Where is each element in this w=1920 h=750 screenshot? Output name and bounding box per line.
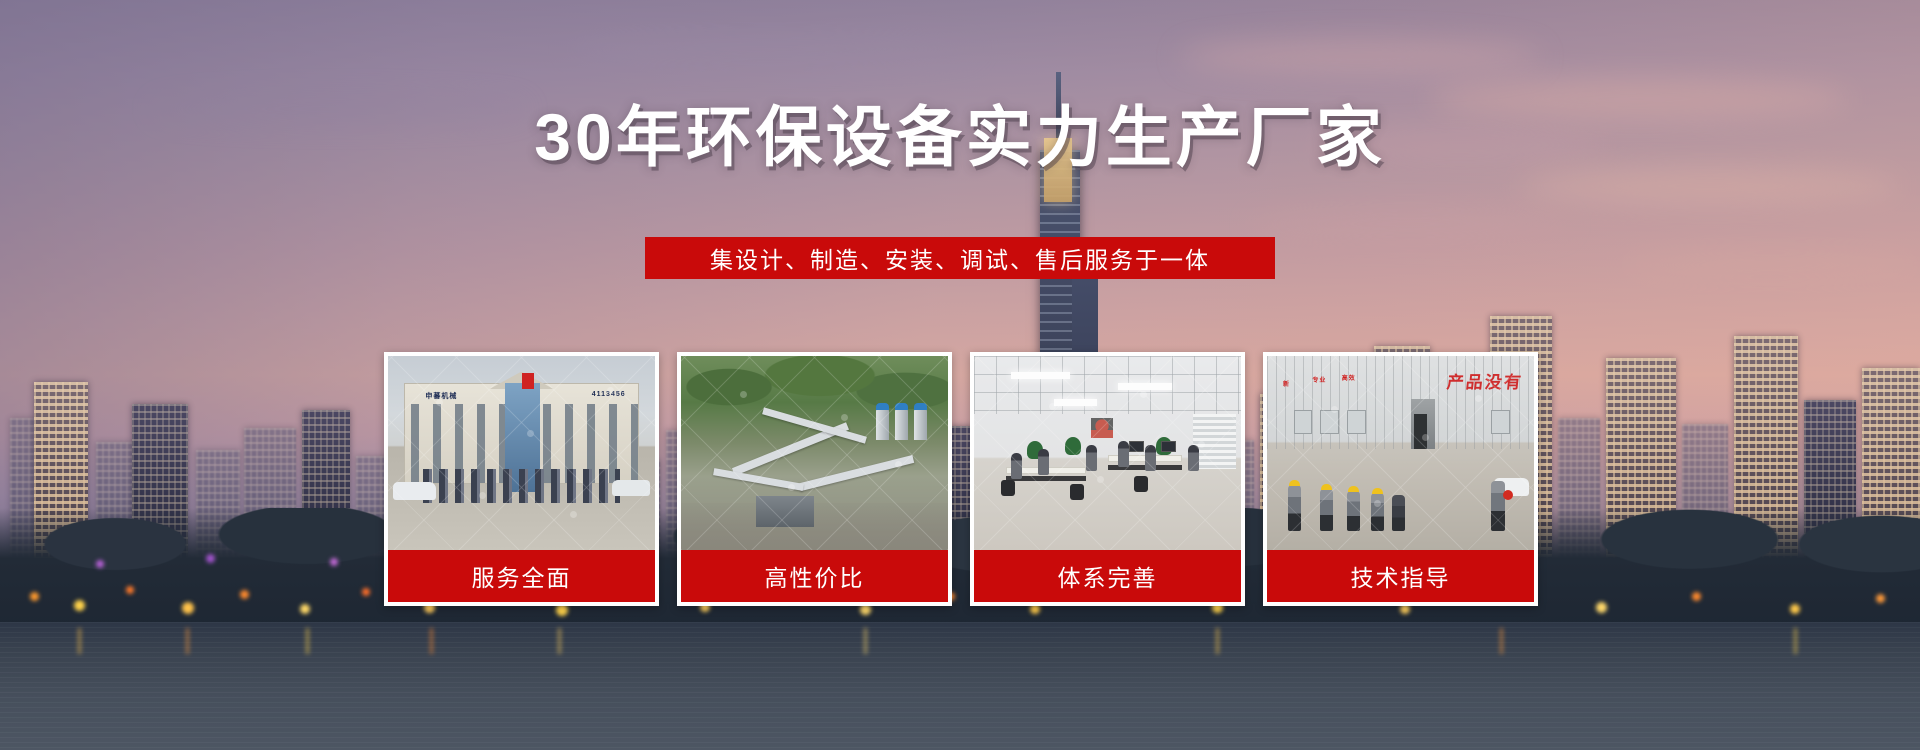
hero-banner: 30年环保设备实力生产厂家 集设计、制造、安装、调试、售后服务于一体 申蕃机械 … <box>0 0 1920 750</box>
factory-wall-word: 新 <box>1283 379 1290 388</box>
factory-wall-word: 高效 <box>1342 373 1356 382</box>
card-caption: 高性价比 <box>681 550 948 602</box>
card-caption: 服务全面 <box>388 550 655 602</box>
flag-icon <box>522 373 534 389</box>
company-office-building-photo: 申蕃机械 4113456 <box>388 356 655 550</box>
card-caption-text: 体系完善 <box>1058 559 1158 593</box>
factory-wall-slogan: 产品没有 <box>1446 368 1525 393</box>
feature-card[interactable]: 申蕃机械 4113456 服务全面 <box>384 352 659 606</box>
card-caption-text: 服务全面 <box>472 559 572 593</box>
river-water <box>0 622 1920 750</box>
card-caption: 体系完善 <box>974 550 1241 602</box>
office-interior-team-photo <box>974 356 1241 550</box>
safety-helmet-icon <box>1503 490 1513 500</box>
factory-workers-training-photo: 产品没有 新 专业 高效 <box>1267 356 1534 550</box>
building-phone-text: 4113456 <box>592 391 626 398</box>
feature-card[interactable]: 体系完善 <box>970 352 1245 606</box>
card-caption-text: 技术指导 <box>1351 559 1451 593</box>
subtitle-banner: 集设计、制造、安装、调试、售后服务于一体 <box>645 237 1275 279</box>
feature-card[interactable]: 产品没有 新 专业 高效 <box>1263 352 1538 606</box>
building-sign-text: 申蕃机械 <box>425 391 457 401</box>
feature-card[interactable]: 高性价比 <box>677 352 952 606</box>
wall-logo-icon <box>1091 418 1113 438</box>
page-title: 30年环保设备实力生产厂家 <box>0 104 1920 170</box>
industrial-plant-aerial-photo <box>681 356 948 550</box>
factory-wall-word: 专业 <box>1312 375 1326 384</box>
feature-card-grid: 申蕃机械 4113456 服务全面 <box>384 352 1538 606</box>
cloud-shape <box>560 34 980 64</box>
card-caption: 技术指导 <box>1267 550 1534 602</box>
card-caption-text: 高性价比 <box>765 559 865 593</box>
cloud-shape <box>1180 40 1540 74</box>
subtitle-text: 集设计、制造、安装、调试、售后服务于一体 <box>710 241 1210 275</box>
